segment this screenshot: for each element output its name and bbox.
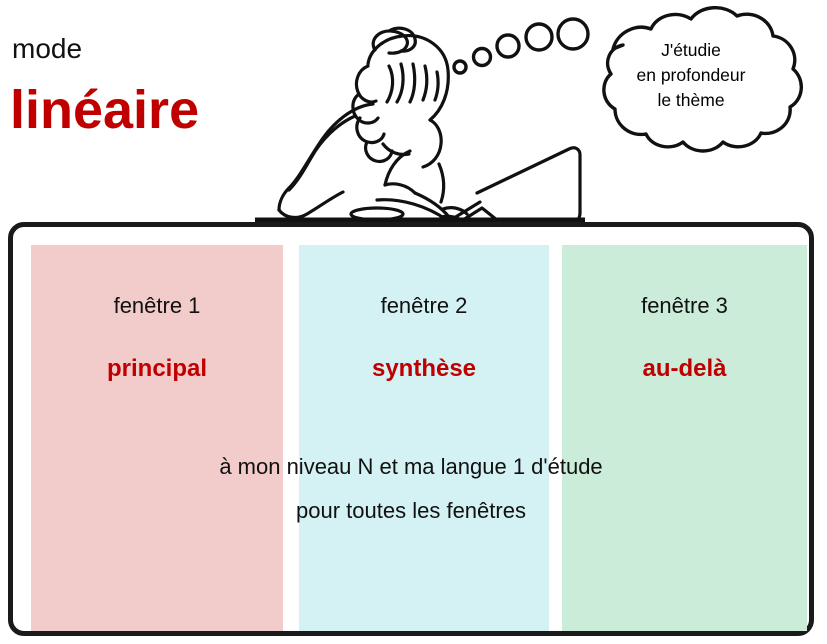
window-column-1[interactable]: fenêtre 1 principal bbox=[31, 245, 283, 631]
window-column-1-title: fenêtre 1 bbox=[31, 293, 283, 319]
thought-bubbles-trail-icon bbox=[454, 19, 588, 73]
window-columns: fenêtre 1 principal fenêtre 2 synthèse f… bbox=[13, 227, 809, 631]
window-column-1-name: principal bbox=[31, 355, 283, 383]
mode-value: linéaire bbox=[10, 80, 199, 140]
mode-label: mode bbox=[12, 33, 82, 65]
thought-bubble-line-1: J'étudie bbox=[601, 38, 781, 63]
thought-bubble-line-3: le thème bbox=[601, 88, 781, 113]
window-column-3-name: au-delà bbox=[562, 355, 807, 383]
window-column-3-title: fenêtre 3 bbox=[562, 293, 807, 319]
thought-bubble-text: J'étudie en profondeur le thème bbox=[601, 38, 781, 113]
thought-bubble-line-2: en profondeur bbox=[601, 63, 781, 88]
window-column-3[interactable]: fenêtre 3 au-delà bbox=[562, 245, 807, 631]
windows-panel: fenêtre 1 principal fenêtre 2 synthèse f… bbox=[8, 222, 814, 636]
window-column-2-name: synthèse bbox=[299, 355, 549, 383]
window-column-2[interactable]: fenêtre 2 synthèse bbox=[299, 245, 549, 631]
window-column-2-title: fenêtre 2 bbox=[299, 293, 549, 319]
header-region: mode linéaire bbox=[0, 0, 827, 222]
